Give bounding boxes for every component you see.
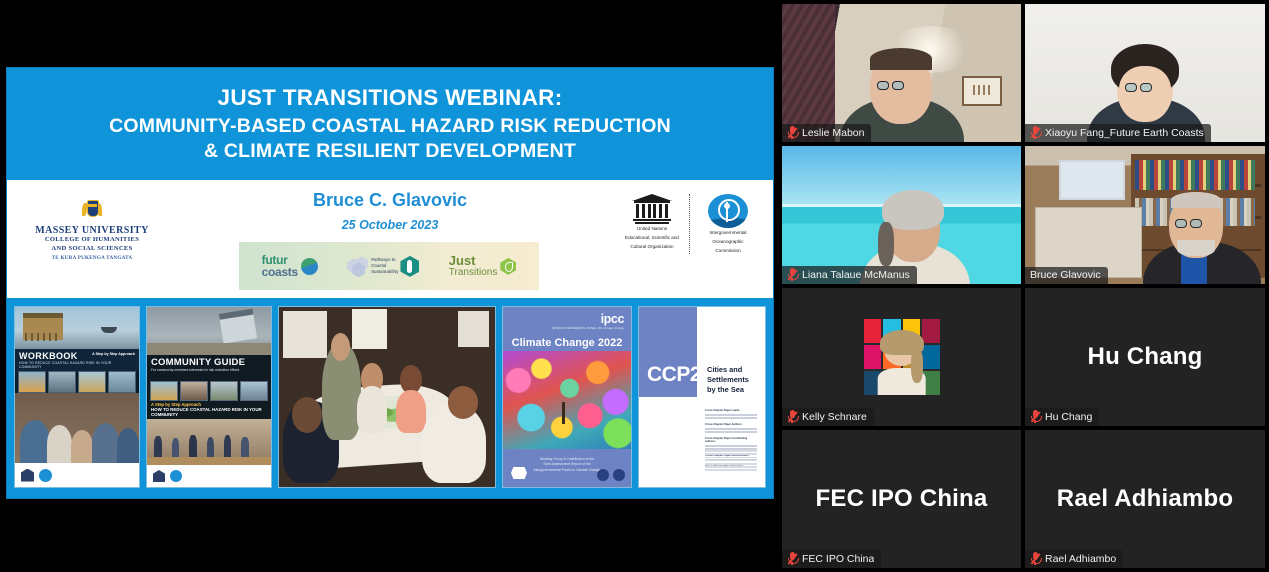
guide-subtitle: For community members interested in risk…	[151, 368, 267, 372]
mic-muted-icon	[787, 410, 797, 423]
ccp2-title-line2: by the Sea	[707, 385, 765, 395]
ioc-globe-icon	[708, 194, 748, 228]
ioc-logo: Intergovernmental Oceanographic Commissi…	[697, 194, 759, 254]
ioc-caption-line1: Intergovernmental	[697, 230, 759, 237]
screen-share-region: JUST TRANSITIONS WEBINAR: COMMUNITY-BASE…	[0, 0, 778, 572]
participant-name-placeholder: Hu Chang	[1025, 343, 1265, 371]
participant-tile-bruce-glavovic[interactable]: Bruce Glavovic	[1025, 146, 1265, 284]
wmo-logo-icon	[597, 469, 609, 481]
participant-name-badge: Bruce Glavovic	[1025, 267, 1108, 284]
participant-name-badge: Xiaoyu Fang_Future Earth Coasts	[1025, 124, 1211, 142]
future-earth-coasts-logo: futur coasts	[262, 254, 318, 278]
massey-college-line1: COLLEGE OF HUMANITIES	[21, 236, 163, 245]
guide-title: COMMUNITY GUIDE	[151, 357, 267, 368]
participant-tile-rael-adhiambo[interactable]: Rael Adhiambo Rael Adhiambo	[1025, 430, 1265, 568]
pathways-line3: Sustainability	[371, 269, 398, 275]
guide-footer-logos	[147, 465, 271, 487]
massey-university-logo: MASSEY UNIVERSITY COLLEGE OF HUMANITIES …	[21, 198, 163, 261]
ccp2-meta-0: Cross-Chapter Paper Leads:	[705, 409, 757, 412]
massey-maori-name: TE KURA PUKENGA TANGATA	[21, 255, 163, 261]
unep-logo-icon	[613, 469, 625, 481]
participant-name-badge: Kelly Schnare	[782, 408, 874, 426]
just-transitions-logo: Just Transitions	[449, 254, 517, 278]
pathways-hex-mark-icon	[400, 256, 419, 277]
mic-muted-icon	[1030, 552, 1040, 565]
participant-grid: Leslie Mabon Xiaoyu Fang_Future Earth Co…	[778, 0, 1269, 572]
ipcc-cover-artwork	[503, 351, 631, 449]
ccp2-meta-1: Cross-Chapter Paper Authors:	[705, 423, 757, 426]
unesco-caption-line1: United Nations	[621, 226, 683, 233]
massey-name: MASSEY UNIVERSITY	[21, 225, 163, 236]
slide-title-line1: JUST TRANSITIONS WEBINAR:	[29, 84, 751, 111]
ipcc-seal-icon	[511, 467, 527, 479]
workbook-bottom-photo	[15, 393, 139, 463]
presentation-slide: JUST TRANSITIONS WEBINAR: COMMUNITY-BASE…	[7, 68, 773, 498]
unesco-logo: United Nations Educational, Scientific a…	[621, 194, 683, 250]
meeting-screen: JUST TRANSITIONS WEBINAR: COMMUNITY-BASE…	[0, 0, 1269, 572]
ipcc-logo-subtitle: INTERGOVERNMENTAL PANEL ON climate chang…	[552, 326, 624, 330]
just-line1: Just	[449, 254, 498, 268]
participant-name: Hu Chang	[1045, 411, 1092, 423]
ioc-caption-line3: Commission	[697, 248, 759, 255]
participant-avatar	[864, 319, 940, 395]
mic-muted-icon	[1030, 410, 1040, 423]
publication-strip: WORKBOOK HOW TO REDUCE COASTAL HAZARD RI…	[7, 298, 773, 498]
ccp2-title-line1: Cities and Settlements	[707, 365, 765, 385]
future-earth-globe-icon	[301, 258, 318, 275]
slide-credits-band: Bruce C. Glavovic 25 October 2023 MASSEY…	[7, 180, 773, 298]
cover-ipcc-ar6-wg2: ipcc INTERGOVERNMENTAL PANEL ON climate …	[502, 306, 632, 488]
workbook-footer-logos	[15, 463, 139, 487]
partner-logo-bar: futur coasts Pathways to Coastal Sustain…	[239, 242, 539, 290]
mic-muted-icon	[787, 126, 797, 139]
mic-muted-icon	[787, 552, 797, 565]
future-earth-line2: coasts	[262, 266, 298, 278]
participant-name-placeholder: Rael Adhiambo	[1025, 485, 1265, 513]
ioc-mini-icon	[39, 469, 52, 482]
mic-muted-icon	[1030, 126, 1040, 139]
unesco-caption-line2: Educational, Scientific and	[621, 235, 683, 242]
participant-name: Kelly Schnare	[802, 411, 867, 423]
cover-workbook: WORKBOOK HOW TO REDUCE COASTAL HAZARD RI…	[14, 306, 140, 488]
workbook-title-band: WORKBOOK HOW TO REDUCE COASTAL HAZARD RI…	[15, 349, 139, 371]
ccp2-footnote-block	[705, 449, 757, 471]
unesco-mini-icon	[21, 469, 34, 482]
participant-name-badge: Liana Talaue McManus	[782, 266, 917, 284]
pathways-coastal-sustainability-logo: Pathways to Coastal Sustainability	[347, 256, 419, 277]
ioc-mini-icon	[170, 470, 182, 482]
ioc-caption-line2: Oceanographic	[697, 239, 759, 246]
slide-header: JUST TRANSITIONS WEBINAR: COMMUNITY-BASE…	[7, 68, 773, 178]
guide-tagline-band: A Step by Step Approach HOW TO REDUCE CO…	[147, 401, 271, 419]
participant-tile-leslie-mabon[interactable]: Leslie Mabon	[782, 4, 1021, 142]
workbook-subtitle: HOW TO REDUCE COASTAL HAZARD RISK IN YOU…	[19, 361, 135, 369]
participant-tile-liana-talaue-mcmanus[interactable]: Liana Talaue McManus	[782, 146, 1021, 284]
participant-name-badge: FEC IPO China	[782, 550, 881, 568]
massey-college-line2: AND SOCIAL SCIENCES	[21, 245, 163, 254]
participant-name: Bruce Glavovic	[1030, 269, 1101, 281]
participant-name: Rael Adhiambo	[1045, 553, 1116, 565]
guide-top-photo	[147, 307, 271, 355]
unesco-mini-icon	[153, 470, 165, 482]
guide-subtitle2: HOW TO REDUCE COASTAL HAZARD RISK IN YOU…	[151, 407, 267, 417]
participant-name: Leslie Mabon	[802, 127, 864, 139]
workbook-thumbnails	[15, 371, 139, 393]
ccp2-meta-2: Cross-Chapter Paper Contributing Authors…	[705, 437, 757, 443]
logo-divider	[689, 194, 691, 254]
cover-community-guide: COMMUNITY GUIDE For community members in…	[146, 306, 272, 488]
cover-ccp2-chapter: CCP2 Cities and Settlements by the Sea C…	[638, 306, 766, 488]
participant-name-placeholder: FEC IPO China	[782, 485, 1021, 513]
unesco-ioc-logos: United Nations Educational, Scientific a…	[621, 194, 759, 254]
ipcc-logo: ipcc	[601, 312, 624, 326]
participant-name-badge: Leslie Mabon	[782, 124, 871, 142]
workbook-top-photo	[15, 307, 139, 349]
slide-title-line3: & CLIMATE RESILIENT DEVELOPMENT	[29, 139, 751, 164]
participant-tile-fec-ipo-china[interactable]: FEC IPO China FEC IPO China	[782, 430, 1021, 568]
mic-muted-icon	[787, 268, 797, 281]
massey-crest-icon	[82, 198, 102, 222]
participant-name-badge: Hu Chang	[1025, 408, 1099, 426]
unesco-caption-line3: Cultural Organization	[621, 244, 683, 251]
ccp2-number: CCP2	[647, 363, 701, 387]
guide-title-band: COMMUNITY GUIDE For community members in…	[147, 355, 271, 381]
hexagon-cluster-icon	[347, 256, 369, 276]
unesco-temple-icon	[632, 194, 672, 224]
participant-name: FEC IPO China	[802, 553, 874, 565]
guide-thumbnails	[147, 381, 271, 401]
slide-title-line2: COMMUNITY-BASED COASTAL HAZARD RISK REDU…	[29, 114, 751, 139]
participant-name: Xiaoyu Fang_Future Earth Coasts	[1045, 127, 1204, 139]
ipcc-title: Climate Change 2022	[503, 337, 631, 349]
participant-name: Liana Talaue McManus	[802, 269, 910, 281]
guide-bottom-photo	[147, 419, 271, 465]
just-transitions-leaf-icon	[500, 258, 516, 275]
participant-tile-hu-chang[interactable]: Hu Chang Hu Chang	[1025, 288, 1265, 426]
participant-tile-xiaoyu-fang[interactable]: Xiaoyu Fang_Future Earth Coasts	[1025, 4, 1265, 142]
just-line2: Transitions	[449, 268, 498, 279]
participant-tile-kelly-schnare[interactable]: Kelly Schnare	[782, 288, 1021, 426]
participant-name-badge: Rael Adhiambo	[1025, 550, 1123, 568]
workbook-tagline: A Step by Step Approach	[92, 352, 135, 356]
workshop-photo	[278, 306, 496, 488]
